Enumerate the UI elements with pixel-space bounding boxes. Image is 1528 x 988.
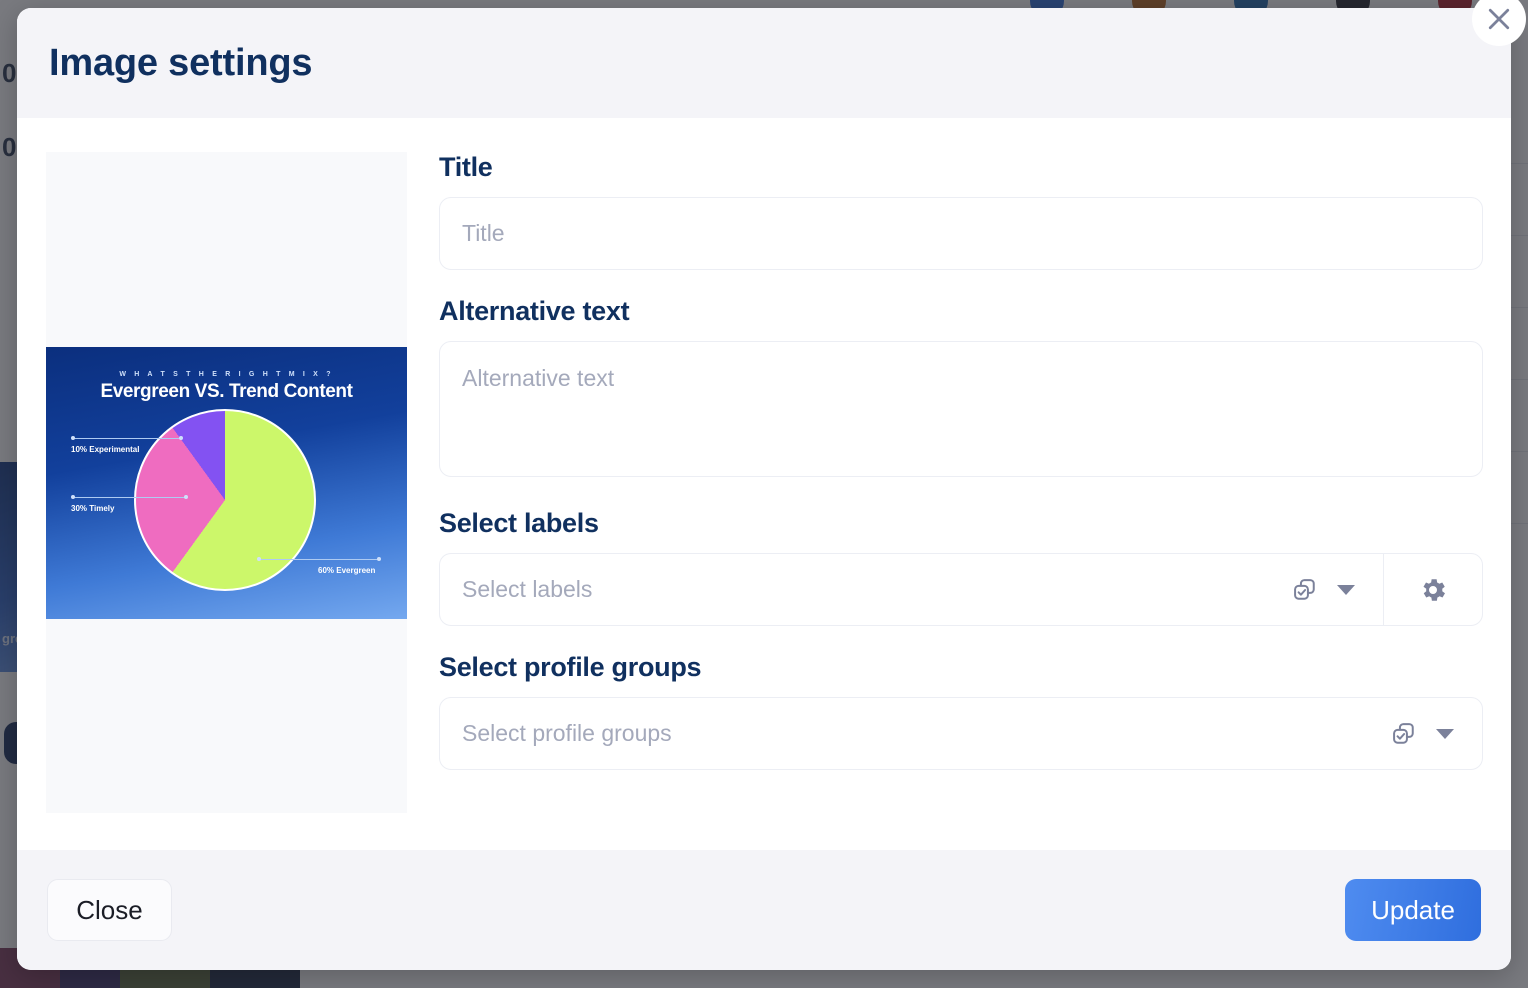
alt-text-input[interactable] [439, 341, 1483, 477]
slice-label-evergreen: 60% Evergreen [318, 566, 375, 575]
alt-text-field-group: Alternative text [439, 296, 1483, 482]
chevron-down-icon[interactable] [1436, 729, 1454, 739]
select-labels-placeholder: Select labels [462, 576, 1291, 603]
select-profile-groups-placeholder: Select profile groups [462, 720, 1390, 747]
multi-select-icon[interactable] [1291, 576, 1319, 604]
leader-line-evergreen [258, 559, 380, 560]
select-profile-groups-dropdown[interactable]: Select profile groups [439, 697, 1483, 770]
select-labels-dropdown[interactable]: Select labels [439, 553, 1383, 626]
select-profile-groups-field-group: Select profile groups Select profile gro… [439, 652, 1483, 770]
image-settings-form: Title Alternative text Select labels Sel… [439, 152, 1483, 850]
gear-icon [1418, 575, 1448, 605]
infographic-kicker: W H A T S T H E R I G H T M I X ? [46, 371, 407, 378]
title-field-group: Title [439, 152, 1483, 270]
leader-line-experimental [72, 438, 182, 439]
select-profile-groups-label: Select profile groups [439, 652, 1483, 683]
slice-label-timely: 30% Timely [71, 504, 114, 513]
label-settings-button[interactable] [1383, 553, 1483, 626]
image-settings-modal: Image settings W H A T S T H E R I G H T… [17, 8, 1511, 970]
title-input[interactable] [439, 197, 1483, 270]
alt-text-label: Alternative text [439, 296, 1483, 327]
pie-chart [134, 409, 316, 591]
close-button[interactable]: Close [47, 879, 172, 941]
chevron-down-icon[interactable] [1337, 585, 1355, 595]
slice-label-experimental: 10% Experimental [71, 445, 139, 454]
image-preview-panel: W H A T S T H E R I G H T M I X ? Evergr… [46, 152, 407, 813]
title-label: Title [439, 152, 1483, 183]
page-title: Image settings [49, 42, 312, 85]
leader-line-timely [72, 497, 187, 498]
update-button[interactable]: Update [1345, 879, 1481, 941]
select-labels-row: Select labels [439, 553, 1483, 626]
close-icon [1484, 4, 1514, 34]
select-profile-groups-row: Select profile groups [439, 697, 1483, 770]
modal-body: W H A T S T H E R I G H T M I X ? Evergr… [17, 118, 1511, 850]
modal-footer: Close Update [17, 850, 1511, 970]
image-preview: W H A T S T H E R I G H T M I X ? Evergr… [46, 347, 407, 619]
select-labels-label: Select labels [439, 508, 1483, 539]
infographic-title: Evergreen VS. Trend Content [46, 381, 407, 403]
modal-header: Image settings [17, 8, 1511, 118]
select-labels-field-group: Select labels Select labels [439, 508, 1483, 626]
multi-select-icon[interactable] [1390, 720, 1418, 748]
